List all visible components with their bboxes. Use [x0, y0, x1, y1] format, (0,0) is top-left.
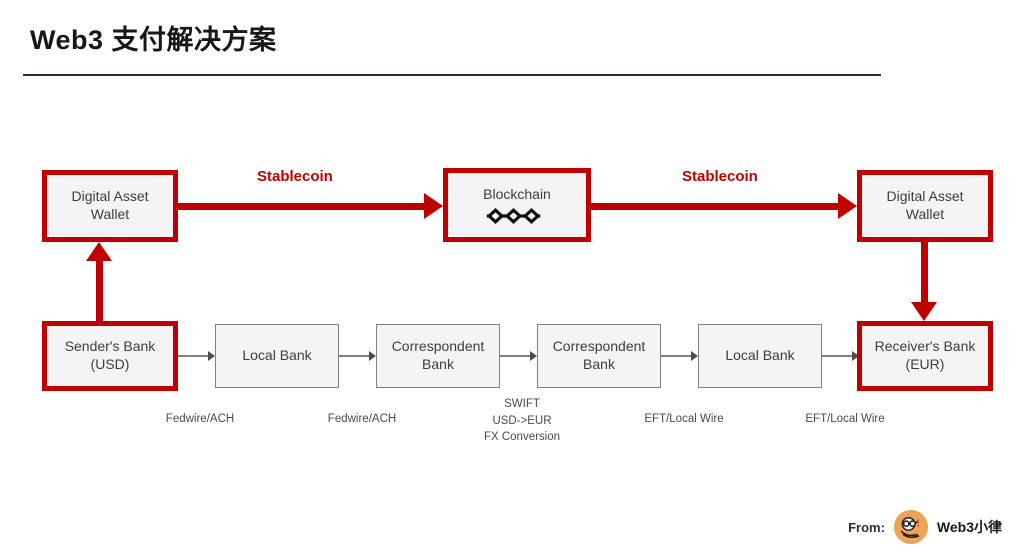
node-blockchain[interactable]: Blockchain: [443, 168, 591, 242]
red-connector-wallet-to-blockchain: [178, 203, 426, 210]
edge-label-stablecoin-right: Stablecoin: [682, 168, 758, 185]
gray-connector-4: [661, 355, 692, 357]
node-label: Digital Asset Wallet: [71, 188, 148, 224]
footer-brand-label: Web3小律: [937, 517, 1002, 537]
node-digital-asset-wallet-left[interactable]: Digital Asset Wallet: [42, 170, 178, 242]
gray-connector-3: [500, 355, 531, 357]
node-local-bank-left[interactable]: Local Bank: [215, 324, 339, 388]
gray-connector-2: [339, 355, 370, 357]
node-receivers-bank[interactable]: Receiver's Bank (EUR): [857, 321, 993, 391]
gray-arrowhead-1: [208, 351, 215, 361]
red-arrowhead-to-blockchain: [424, 193, 443, 219]
gray-connector-1: [178, 355, 209, 357]
gray-arrowhead-4: [691, 351, 698, 361]
node-label: Digital Asset Wallet: [886, 188, 963, 224]
node-senders-bank[interactable]: Sender's Bank (USD): [42, 321, 178, 391]
edge-label-stablecoin-left: Stablecoin: [257, 168, 333, 185]
title-divider: [23, 74, 881, 76]
red-connector-wallet-to-receiver-bank: [921, 242, 928, 304]
blockchain-content: Blockchain: [483, 186, 551, 224]
gray-arrowhead-2: [369, 351, 376, 361]
node-digital-asset-wallet-right[interactable]: Digital Asset Wallet: [857, 170, 993, 242]
user-avatar-icon: [894, 510, 928, 544]
node-local-bank-right[interactable]: Local Bank: [698, 324, 822, 388]
node-label: Correspondent Bank: [392, 338, 485, 374]
node-label: Receiver's Bank (EUR): [875, 338, 976, 374]
chain-link-icon: [486, 208, 548, 224]
node-label: Local Bank: [725, 347, 794, 365]
footer-attribution: From: Web3小律: [848, 510, 1002, 544]
node-label: Blockchain: [483, 186, 551, 204]
rail-caption-fedwire-ach-1: Fedwire/ACH: [166, 411, 234, 428]
node-label: Sender's Bank (USD): [65, 338, 156, 374]
footer-from-label: From:: [848, 520, 885, 535]
rail-caption-fedwire-ach-2: Fedwire/ACH: [328, 411, 396, 428]
red-arrowhead-to-wallet-right: [838, 193, 857, 219]
node-label: Local Bank: [242, 347, 311, 365]
gray-connector-5: [822, 355, 853, 357]
red-connector-sender-bank-to-wallet: [96, 258, 103, 324]
rail-caption-eft-local-wire-2: EFT/Local Wire: [805, 411, 884, 428]
red-arrowhead-up-to-wallet: [86, 242, 112, 261]
rail-caption-eft-local-wire-1: EFT/Local Wire: [644, 411, 723, 428]
node-label: Correspondent Bank: [553, 338, 646, 374]
rail-caption-swift-fx: SWIFT USD->EUR FX Conversion: [484, 396, 560, 446]
red-arrowhead-down-to-receiver-bank: [911, 302, 937, 321]
gray-arrowhead-3: [530, 351, 537, 361]
red-connector-blockchain-to-wallet: [591, 203, 840, 210]
page-title: Web3 支付解决方案: [30, 18, 277, 57]
node-correspondent-bank-right[interactable]: Correspondent Bank: [537, 324, 661, 388]
node-correspondent-bank-left[interactable]: Correspondent Bank: [376, 324, 500, 388]
